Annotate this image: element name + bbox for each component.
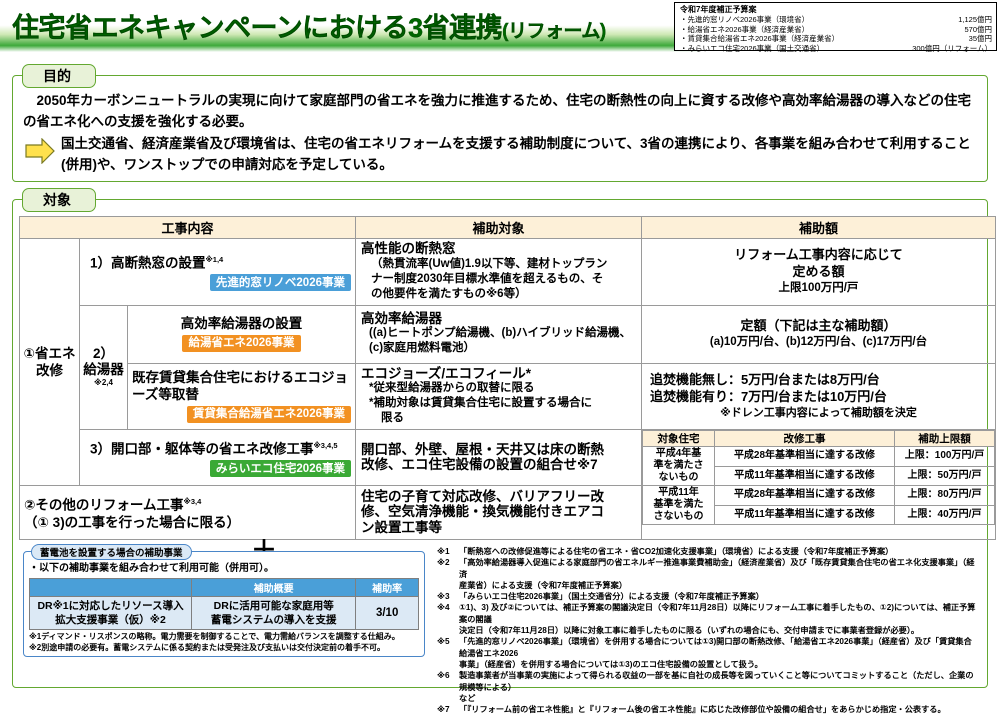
table-row: 2） 給湯器 ※2,4 高効率給湯器の設置 給湯省エネ2026事業 高効率給湯器… — [20, 305, 996, 363]
budget-title: 令和7年度補正予算案 — [680, 5, 992, 15]
footnote-text: 製造事業者が当事業の実施によって得られる収益の一部を基に自社の成長等を図っていく… — [459, 670, 979, 704]
battery-summary-line2: 蓄電システムの導入を支援 — [194, 613, 353, 627]
house-line: 平成4年基 — [645, 448, 712, 460]
battery-summary: DRに活用可能な家庭用等 蓄電システムの導入を支援 — [192, 597, 356, 630]
battery-header-row: 補助概要 補助率 — [30, 579, 419, 597]
category-2-line2: （① 3)の工事を行った場合に限る） — [24, 514, 351, 531]
amount-line: 上限100万円/戸 — [644, 280, 993, 297]
budget-item-amount: 1,125億円 — [958, 15, 992, 25]
object-cell-envelope: 開口部、外壁、屋根・天井又は床の断熱 改修、エコ住宅設備の設置の組合せ※7 — [356, 430, 642, 486]
battery-note: ※2別途申請の必要有。蓄電システムに係る契約または受発注及び支払いは交付決定前の… — [29, 643, 419, 654]
footnote-item: ※2 「高効率給湯器導入促進による家庭部門の省エネルギー推進事業費補助金」（経済… — [437, 557, 979, 591]
object-line: （熱貫流率(Uw値)1.9以下等、建材トップラン — [361, 257, 637, 272]
footnote-text: 「断熱窓への改修促進等による住宅の省エネ・省CO2加速化支援事業」（環境省）によ… — [459, 546, 979, 557]
house-line: 準を満たさ — [645, 460, 712, 472]
budget-row: ・給湯省エネ2026事業（経済産業省） 570億円 — [680, 25, 992, 35]
house-line: ないもの — [645, 472, 712, 484]
work-title-text: 1）高断熱窓の設置 — [90, 256, 206, 271]
footnote-text: 「『リフォーム前の省エネ性能』と『リフォーム後の省エネ性能』に応じた改修部位や設… — [459, 704, 979, 715]
battery-header-rate: 補助率 — [356, 579, 419, 597]
amount-cell-waterheater: 定額（下記は主な補助額） (a)10万円/台、(b)12万円/台、(c)17万円… — [642, 305, 996, 363]
battery-table: 補助概要 補助率 DR※1に対応したリソース導入 拡大支援事業（仮）※2 — [29, 578, 419, 630]
subtable-work: 平成11年基準相当に達する改修 — [715, 466, 895, 486]
object-cell-other: 住宅の子育て対応改修、バリアフリー改 修、空気清浄機能・換気機能付きエアコ ン設… — [356, 486, 642, 540]
amount-line: リフォーム工事内容に応じて — [644, 246, 993, 263]
work-title-envelope: 3）開口部・躯体等の省エネ改修工事※3,4,5 — [90, 437, 351, 458]
battery-header-summary: 補助概要 — [192, 579, 356, 597]
page-header: 住宅省エネキャンペーンにおける3省連携(リフォーム) 令和7年度補正予算案 ・先… — [0, 0, 1000, 58]
amount-line: (a)10万円/台、(b)12万円/台、(c)17万円/台 — [644, 334, 993, 351]
amount-line: 追焚機能有り：7万円/台または10万円/台 — [644, 388, 993, 405]
object-cell-window: 高性能の断熱窓 （熱貫流率(Uw値)1.9以下等、建材トップラン ナー制度203… — [356, 239, 642, 306]
footnote-number: ※6 — [437, 670, 459, 704]
subtable-cap: 上限：50万円/戸 — [895, 466, 995, 486]
battery-header-blank — [30, 579, 192, 597]
subtable-house-2: 平成11年 基準を満た さないもの — [643, 486, 715, 525]
footnote-line: 「高効率給湯器導入促進による家庭部門の省エネルギー推進事業費補助金」（経済産業省… — [459, 557, 979, 580]
program-tag-miraieco: みらいエコ住宅2026事業 — [210, 460, 351, 477]
battery-section: ＋ 蓄電池を設置する場合の補助事業 ・以下の補助事業を組み合わせて利用可能（併用… — [19, 544, 429, 715]
battery-notes: ※1ディマンド・リスポンスの略称。電力需要を制御することで、電力需給バランスを調… — [29, 632, 419, 653]
table-row: ①省エネ 改修 1）高断熱窓の設置※1,4 先進的窓リノベ2026事業 高性能の… — [20, 239, 996, 306]
footnote-number: ※3 — [437, 591, 459, 602]
purpose-section: 目的 2050年カーボンニュートラルの実現に向けて家庭部門の省エネを強力に推進す… — [0, 64, 1000, 182]
footnote-number: ※4 — [437, 602, 459, 636]
object-line: ((a)ヒートポンプ給湯機、(b)ハイブリッド給湯機、 — [361, 326, 637, 341]
footnote-item: ※5 「先進的窓リノベ2026事業」（環境省）を併用する場合については①3)開口… — [437, 636, 979, 670]
work-cell-rental: 既存賃貸集合住宅におけるエコジョーズ等取替 賃貸集合給湯省エネ2026事業 — [128, 363, 356, 430]
battery-note: ※1ディマンド・リスポンスの略称。電力需要を制御することで、電力需給バランスを調… — [29, 632, 419, 643]
object-line: (c)家庭用燃料電池） — [361, 341, 637, 356]
object-line: ン設置工事等 — [361, 520, 637, 536]
footnote-item: ※7 「『リフォーム前の省エネ性能』と『リフォーム後の省エネ性能』に応じた改修部… — [437, 704, 979, 715]
column-header-amount: 補助額 — [642, 217, 996, 239]
budget-row: ・みらいエコ住宅2026事業（国土交通省） 300億円（リフォーム） — [680, 44, 992, 54]
footnote-item: ※6 製造事業者が当事業の実施によって得られる収益の一部を基に自社の成長等を図っ… — [437, 670, 979, 704]
work-cell-envelope: 3）開口部・躯体等の省エネ改修工事※3,4,5 みらいエコ住宅2026事業 — [80, 430, 356, 486]
purpose-paragraph-1: 2050年カーボンニュートラルの実現に向けて家庭部門の省エネを強力に推進するため… — [23, 90, 977, 132]
work-title-superscript: ※1,4 — [206, 255, 224, 264]
subtable-cap: 上限：40万円/戸 — [895, 505, 995, 525]
footnote-line: ①1)、3) 及び②については、補正予算案の閣議決定日（令和7年11月28日）以… — [459, 602, 979, 625]
work-cell-window: 1）高断熱窓の設置※1,4 先進的窓リノベ2026事業 — [80, 239, 356, 306]
category-2-text: ②その他のリフォーム工事 — [24, 498, 184, 513]
footnote-line: 「先進的窓リノベ2026事業」（環境省）を併用する場合については①3)開口部の断… — [459, 636, 979, 659]
battery-rate: 3/10 — [356, 597, 419, 630]
amount-line: 定める額 — [644, 263, 993, 280]
object-line: の他要件を満たすもの※6等） — [361, 287, 637, 302]
footnote-item: ※1 「断熱窓への改修促進等による住宅の省エネ・省CO2加速化支援事業」（環境省… — [437, 546, 979, 557]
object-cell-waterheater: 高効率給湯器 ((a)ヒートポンプ給湯機、(b)ハイブリッド給湯機、 (c)家庭… — [356, 305, 642, 363]
amount-line: 定額（下記は主な補助額） — [644, 317, 993, 334]
footnote-line: など — [459, 693, 979, 704]
category-2-line1: ②その他のリフォーム工事※3,4 — [24, 493, 351, 514]
target-frame: 工事内容 補助対象 補助額 ①省エネ 改修 1）高断熱窓の設置※1,4 先進的窓… — [12, 199, 988, 688]
work-group-waterheater: 2） 給湯器 ※2,4 — [80, 305, 128, 430]
footnote-number: ※1 — [437, 546, 459, 557]
footnote-line: 決定日（令和7年11月28日）以降に対象工事に着手したものに限る（いずれの場合に… — [459, 625, 979, 636]
object-line: 住宅の子育て対応改修、バリアフリー改 — [361, 489, 637, 505]
amount-line: ※ドレン工事内容によって補助額を決定 — [644, 405, 993, 422]
footnote-line: 産業省）による支援（令和7年度補正予算案） — [459, 580, 979, 591]
subtable-header-house: 対象住宅 — [643, 431, 715, 447]
column-header-work: 工事内容 — [20, 217, 356, 239]
footnote-number: ※5 — [437, 636, 459, 670]
budget-item-name: ・先進的窓リノベ2026事業（環境省） — [680, 15, 809, 25]
battery-row: DR※1に対応したリソース導入 拡大支援事業（仮）※2 DRに活用可能な家庭用等… — [30, 597, 419, 630]
house-line: 基準を満た — [645, 499, 712, 511]
battery-lead-text: ・以下の補助事業を組み合わせて利用可能（併用可）。 — [29, 562, 419, 576]
object-line: 開口部、外壁、屋根・天井又は床の断熱 — [361, 442, 637, 458]
battery-program-name: DR※1に対応したリソース導入 拡大支援事業（仮）※2 — [30, 597, 192, 630]
program-tag-chintai: 賃貸集合給湯省エネ2026事業 — [187, 406, 351, 423]
work-cell-waterheater: 高効率給湯器の設置 給湯省エネ2026事業 — [128, 305, 356, 363]
footnote-line: 「断熱窓への改修促進等による住宅の省エネ・省CO2加速化支援事業」（環境省）によ… — [459, 546, 979, 557]
budget-item-name: ・賃貸集合給湯省エネ2026事業（経済産業省） — [680, 34, 839, 44]
target-section-tab: 対象 — [22, 188, 96, 212]
battery-program-line2: 拡大支援事業（仮）※2 — [32, 613, 189, 627]
subtable-work: 平成28年基準相当に達する改修 — [715, 486, 895, 506]
work-group-superscript: ※2,4 — [81, 378, 126, 388]
object-title: エコジョーズ/エコフィール* — [361, 366, 637, 382]
footnotes-list: ※1 「断熱窓への改修促進等による住宅の省エネ・省CO2加速化支援事業」（環境省… — [429, 544, 981, 715]
table-header-row: 工事内容 補助対象 補助額 — [20, 217, 996, 239]
work-group-line1: 2） — [81, 346, 126, 362]
category-2-superscript: ※3,4 — [184, 497, 202, 506]
budget-box: 令和7年度補正予算案 ・先進的窓リノベ2026事業（環境省） 1,125億円 ・… — [674, 2, 997, 51]
budget-item-name: ・給湯省エネ2026事業（経済産業省） — [680, 25, 809, 35]
housing-standard-table: 対象住宅 改修工事 補助上限額 平成4年基 準を満たさ — [642, 430, 995, 525]
budget-item-amount: 570億円 — [964, 25, 992, 35]
work-cell-other: ②その他のリフォーム工事※3,4 （① 3)の工事を行った場合に限る） — [20, 486, 356, 540]
footnote-text: 「みらいエコ住宅2026事業」（国土交通省分）による支援（令和7年度補正予算案） — [459, 591, 979, 602]
bottom-area: ＋ 蓄電池を設置する場合の補助事業 ・以下の補助事業を組み合わせて利用可能（併用… — [19, 544, 981, 715]
house-line: さないもの — [645, 511, 712, 523]
table-row: 既存賃貸集合住宅におけるエコジョーズ等取替 賃貸集合給湯省エネ2026事業 エコ… — [20, 363, 996, 430]
arrow-right-icon — [25, 138, 57, 170]
house-line: 平成11年 — [645, 487, 712, 499]
object-title: 高性能の断熱窓 — [361, 241, 637, 257]
footnote-text: ①1)、3) 及び②については、補正予算案の閣議決定日（令和7年11月28日）以… — [459, 602, 979, 636]
subtable-row: 平成4年基 準を満たさ ないもの 平成28年基準相当に達する改修 上限：100万… — [643, 447, 995, 467]
object-line: ナー制度2030年目標水準値を超えるもの、そ — [361, 272, 637, 287]
subsidy-table: 工事内容 補助対象 補助額 ①省エネ 改修 1）高断熱窓の設置※1,4 先進的窓… — [19, 216, 996, 540]
page-title: 住宅省エネキャンペーンにおける3省連携(リフォーム) — [12, 6, 606, 45]
subtable-work: 平成28年基準相当に達する改修 — [715, 447, 895, 467]
object-line: 限る — [361, 411, 637, 426]
category-1-line2: 改修 — [21, 362, 78, 379]
page-title-main: 住宅省エネキャンペーンにおける3省連携 — [12, 13, 502, 43]
work-title-window: 1）高断熱窓の設置※1,4 — [90, 251, 351, 272]
work-group-line2: 給湯器 — [81, 362, 126, 378]
footnote-line: 「みらいエコ住宅2026事業」（国土交通省分）による支援（令和7年度補正予算案） — [459, 591, 979, 602]
target-section: 対象 工事内容 補助対象 補助額 ①省エネ 改修 — [0, 188, 1000, 688]
footnote-text: 「高効率給湯器導入促進による家庭部門の省エネルギー推進事業費補助金」（経済産業省… — [459, 557, 979, 591]
subtable-row: 平成11年 基準を満た さないもの 平成28年基準相当に達する改修 上限：80万… — [643, 486, 995, 506]
footnote-number: ※2 — [437, 557, 459, 591]
program-tag-kyutou: 給湯省エネ2026事業 — [182, 335, 300, 352]
column-header-object: 補助対象 — [356, 217, 642, 239]
budget-row: ・賃貸集合給湯省エネ2026事業（経済産業省） 35億円 — [680, 34, 992, 44]
subtable-header-row: 対象住宅 改修工事 補助上限額 — [643, 431, 995, 447]
battery-summary-line1: DRに活用可能な家庭用等 — [194, 599, 353, 613]
work-title-waterheater: 高効率給湯器の設置 — [132, 315, 351, 332]
page-title-sub: (リフォーム) — [502, 21, 606, 42]
budget-item-amount: 300億円（リフォーム） — [912, 44, 992, 54]
battery-program-line1: DR※1に対応したリソース導入 — [32, 599, 189, 613]
program-tag-madonove: 先進的窓リノベ2026事業 — [210, 274, 351, 291]
battery-section-tab: 蓄電池を設置する場合の補助事業 — [31, 544, 192, 560]
object-line: *従来型給湯器からの取替に限る — [361, 381, 637, 396]
object-title: 高効率給湯器 — [361, 311, 637, 327]
footnote-line: 事業」（経産省）を併用する場合については①3)のエコ住宅設備の設置として扱う。 — [459, 659, 979, 670]
purpose-paragraph-2: 国土交通省、経済産業省及び環境省は、住宅の省エネリフォームを支援する補助制度につ… — [61, 133, 977, 175]
amount-cell-window: リフォーム工事内容に応じて 定める額 上限100万円/戸 — [642, 239, 996, 306]
footnote-number: ※7 — [437, 704, 459, 715]
category-1-line1: ①省エネ — [21, 345, 78, 362]
amount-cell-subtable: 対象住宅 改修工事 補助上限額 平成4年基 準を満たさ — [642, 430, 996, 540]
object-cell-rental: エコジョーズ/エコフィール* *従来型給湯器からの取替に限る *補助対象は賃貸集… — [356, 363, 642, 430]
footnote-line: 製造事業者が当事業の実施によって得られる収益の一部を基に自社の成長等を図っていく… — [459, 670, 979, 693]
footnote-text: 「先進的窓リノベ2026事業」（環境省）を併用する場合については①3)開口部の断… — [459, 636, 979, 670]
object-line: 修、空気清浄機能・換気機能付きエアコ — [361, 504, 637, 520]
budget-item-name: ・みらいエコ住宅2026事業（国土交通省） — [680, 44, 824, 54]
footnote-line: 「『リフォーム前の省エネ性能』と『リフォーム後の省エネ性能』に応じた改修部位や設… — [459, 704, 979, 715]
subtable-cap: 上限：100万円/戸 — [895, 447, 995, 467]
footnote-item: ※4 ①1)、3) 及び②については、補正予算案の閣議決定日（令和7年11月28… — [437, 602, 979, 636]
budget-row: ・先進的窓リノベ2026事業（環境省） 1,125億円 — [680, 15, 992, 25]
category-cell-1: ①省エネ 改修 — [20, 239, 80, 486]
subtable-header-cap: 補助上限額 — [895, 431, 995, 447]
purpose-frame: 2050年カーボンニュートラルの実現に向けて家庭部門の省エネを強力に推進するため… — [12, 75, 988, 182]
budget-item-amount: 35億円 — [969, 34, 992, 44]
amount-line: 追焚機能無し：5万円/台または8万円/台 — [644, 371, 993, 388]
work-title-superscript: ※3,4,5 — [314, 441, 338, 450]
table-row: 3）開口部・躯体等の省エネ改修工事※3,4,5 みらいエコ住宅2026事業 開口… — [20, 430, 996, 486]
subtable-cap: 上限：80万円/戸 — [895, 486, 995, 506]
subtable-header-work: 改修工事 — [715, 431, 895, 447]
object-line: *補助対象は賃貸集合住宅に設置する場合に — [361, 396, 637, 411]
subtable-work: 平成11年基準相当に達する改修 — [715, 505, 895, 525]
amount-cell-rental: 追焚機能無し：5万円/台または8万円/台 追焚機能有り：7万円/台または10万円… — [642, 363, 996, 430]
battery-frame: ・以下の補助事業を組み合わせて利用可能（併用可）。 補助概要 補助率 — [23, 551, 425, 657]
object-line: 改修、エコ住宅設備の設置の組合せ※7 — [361, 457, 637, 473]
purpose-section-tab: 目的 — [22, 64, 96, 88]
work-title-text: 3）開口部・躯体等の省エネ改修工事 — [90, 442, 314, 457]
subtable-house-1: 平成4年基 準を満たさ ないもの — [643, 447, 715, 486]
work-title-rental: 既存賃貸集合住宅におけるエコジョーズ等取替 — [132, 369, 351, 403]
footnote-item: ※3 「みらいエコ住宅2026事業」（国土交通省分）による支援（令和7年度補正予… — [437, 591, 979, 602]
